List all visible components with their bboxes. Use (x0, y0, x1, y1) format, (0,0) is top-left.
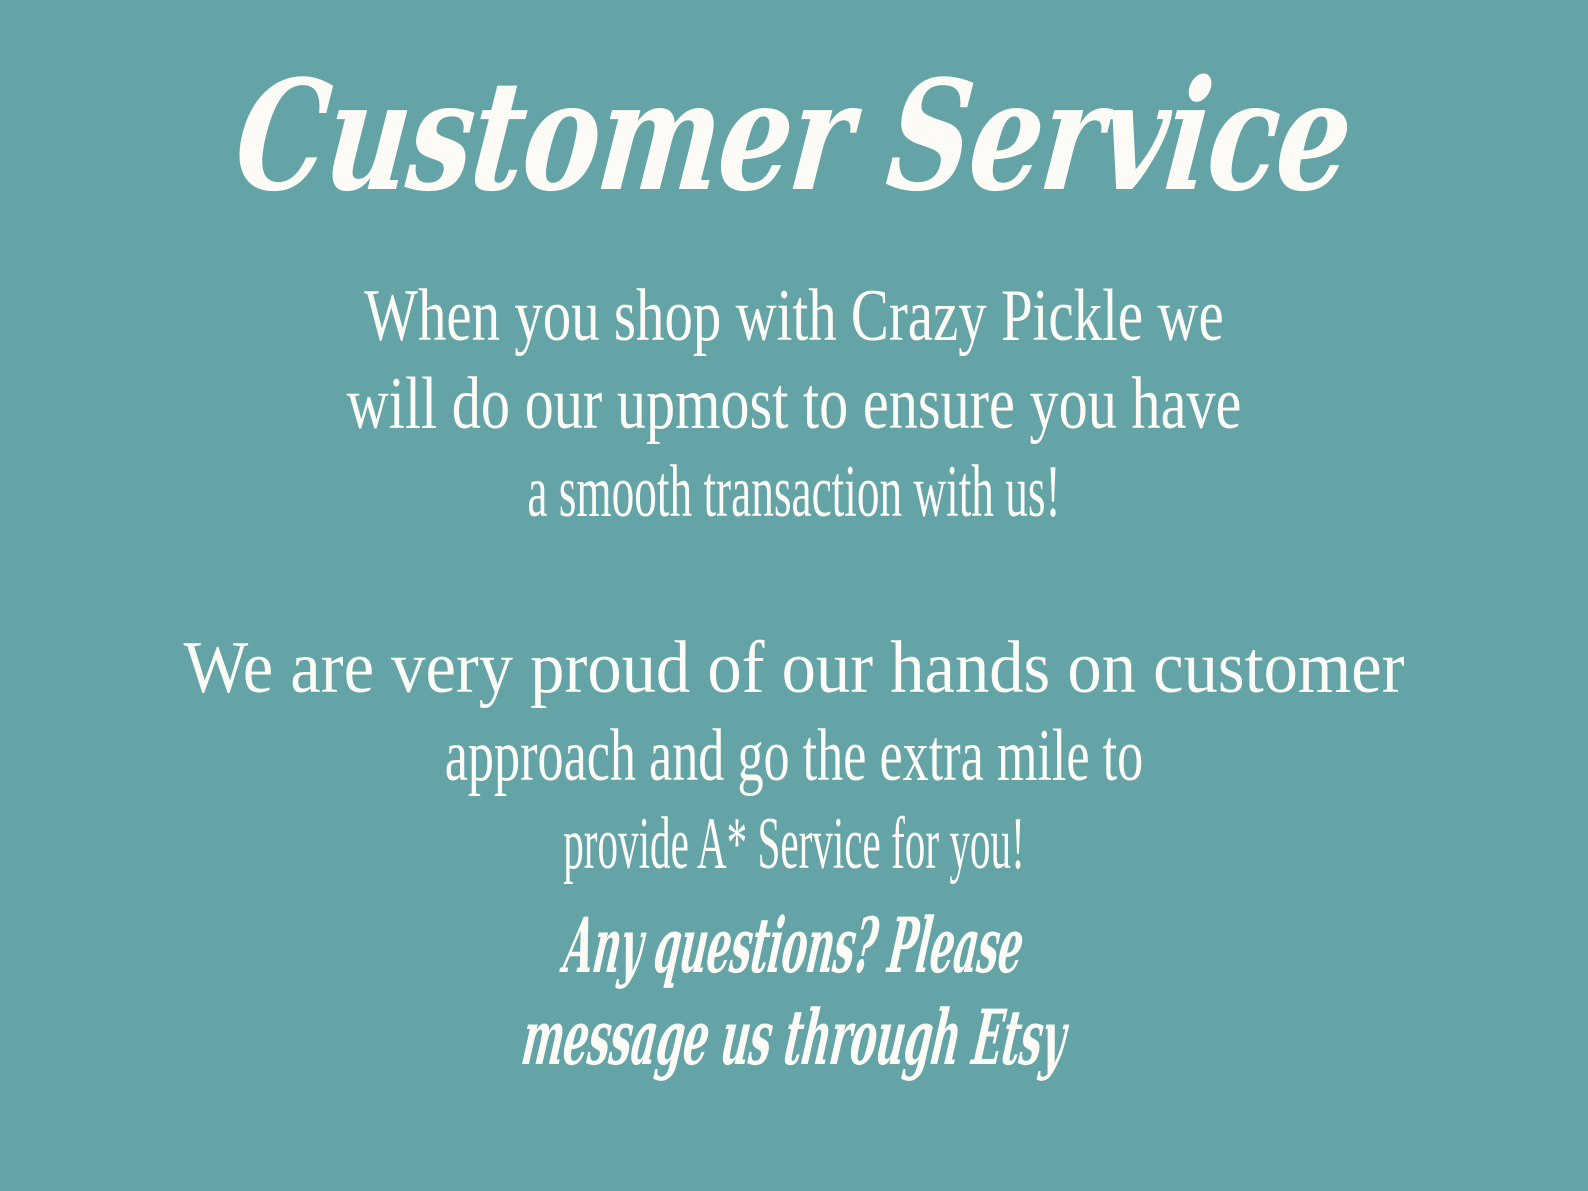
paragraph-line: When you shop with Crazy Pickle we (279, 272, 1309, 360)
contact-callout: Any questions? Please message us through… (0, 900, 1588, 1084)
paragraph-2: We are very proud of our hands on custom… (191, 624, 1397, 888)
page-title: Customer Service (0, 60, 1588, 212)
paragraph-line: approach and go the extra mile to (321, 712, 1266, 800)
page-title-text: Customer Service (230, 60, 1358, 212)
contact-callout-line: message us through Etsy (376, 992, 1211, 1084)
body-copy: When you shop with Crazy Pickle we will … (124, 272, 1464, 888)
paragraph-line: will do our upmost to ensure you have (266, 360, 1321, 448)
paragraph-line: a smooth transaction with us! (384, 448, 1204, 536)
paragraph-line: provide A* Service for you! (422, 800, 1167, 888)
contact-callout-line: Any questions? Please (394, 900, 1193, 992)
paragraph-spacer (124, 536, 1464, 624)
paragraph-line: We are very proud of our hands on custom… (173, 624, 1415, 712)
customer-service-card: Customer Service When you shop with Craz… (0, 0, 1588, 1191)
paragraph-1: When you shop with Crazy Pickle we will … (191, 272, 1397, 536)
